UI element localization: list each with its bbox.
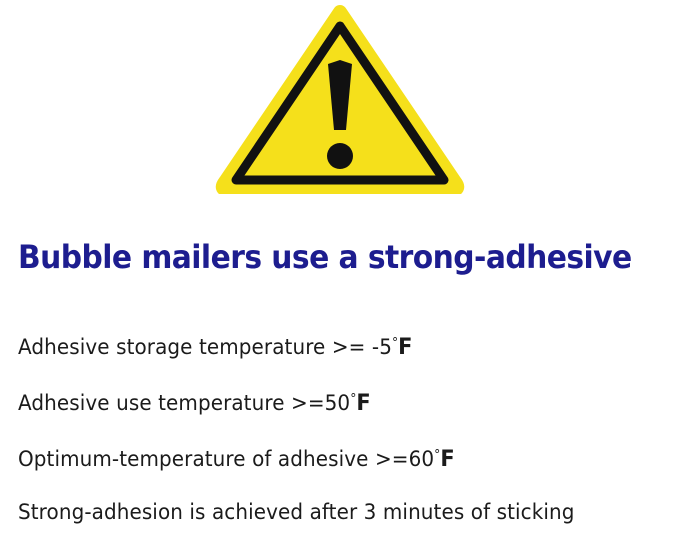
- page-title: Bubble mailers use a strong-adhesive: [18, 238, 618, 276]
- spec-line-storage-temperature: Adhesive storage temperature >= -5°F: [18, 318, 636, 374]
- spec-value-storage-temperature: -5: [372, 335, 392, 359]
- spec-unit-use-temperature: F: [356, 391, 370, 416]
- spec-line-optimum-temperature: Optimum-temperature of adhesive >=60°F: [18, 430, 636, 486]
- spec-label-adhesion-time: Strong-adhesion is achieved after 3 minu…: [18, 500, 575, 524]
- spec-label-use-temperature: Adhesive use temperature >=: [18, 391, 325, 415]
- product-info-panel: Bubble mailers use a strong-adhesive Adh…: [0, 0, 679, 553]
- warning-icon-container: [0, 4, 679, 199]
- warning-triangle-icon: [215, 4, 465, 194]
- spec-label-storage-temperature: Adhesive storage temperature >=: [18, 335, 372, 359]
- spec-line-use-temperature: Adhesive use temperature >=50°F: [18, 374, 636, 430]
- spec-list: Adhesive storage temperature >= -5°F Adh…: [18, 318, 668, 538]
- spec-line-adhesion-time: Strong-adhesion is achieved after 3 minu…: [18, 486, 636, 538]
- spec-value-use-temperature: 50: [325, 391, 351, 415]
- spec-unit-storage-temperature: F: [398, 335, 412, 360]
- spec-unit-optimum-temperature: F: [440, 447, 454, 472]
- spec-value-optimum-temperature: 60: [409, 447, 435, 471]
- spec-label-optimum-temperature: Optimum-temperature of adhesive >=: [18, 447, 409, 471]
